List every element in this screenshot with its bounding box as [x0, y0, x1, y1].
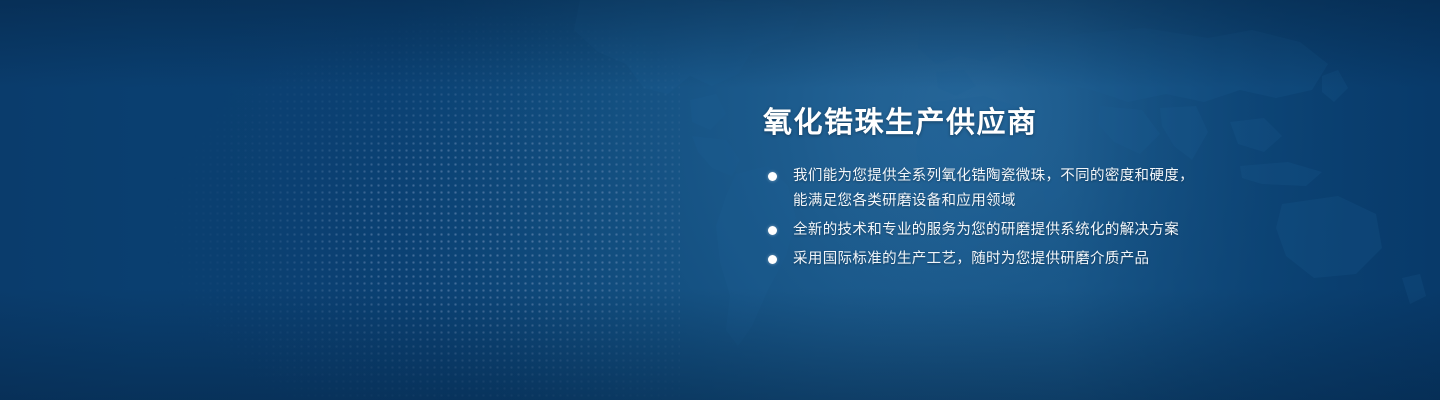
bullet-dot-icon	[768, 255, 777, 264]
list-item: 我们能为您提供全系列氧化锆陶瓷微珠，不同的密度和硬度， 能满足您各类研磨设备和应…	[763, 164, 1233, 214]
bullet-text-line1: 采用国际标准的生产工艺，随时为您提供研磨介质产品	[793, 251, 1149, 267]
list-item: 采用国际标准的生产工艺，随时为您提供研磨介质产品	[763, 247, 1233, 272]
feature-bullet-list: 我们能为您提供全系列氧化锆陶瓷微珠，不同的密度和硬度， 能满足您各类研磨设备和应…	[763, 164, 1233, 272]
page-title: 氧化锆珠生产供应商	[763, 108, 1233, 138]
bullet-text-line2: 能满足您各类研磨设备和应用领域	[793, 189, 1233, 214]
banner-copy: 氧化锆珠生产供应商 我们能为您提供全系列氧化锆陶瓷微珠，不同的密度和硬度， 能满…	[763, 108, 1233, 276]
hero-banner: 氧化锆珠生产供应商 我们能为您提供全系列氧化锆陶瓷微珠，不同的密度和硬度， 能满…	[0, 0, 1440, 400]
bullet-dot-icon	[768, 226, 777, 235]
bullet-dot-icon	[768, 172, 777, 181]
bullet-text-line1: 我们能为您提供全系列氧化锆陶瓷微珠，不同的密度和硬度，	[793, 168, 1194, 184]
list-item: 全新的技术和专业的服务为您的研磨提供系统化的解决方案	[763, 218, 1233, 243]
bullet-text-line1: 全新的技术和专业的服务为您的研磨提供系统化的解决方案	[793, 222, 1179, 238]
